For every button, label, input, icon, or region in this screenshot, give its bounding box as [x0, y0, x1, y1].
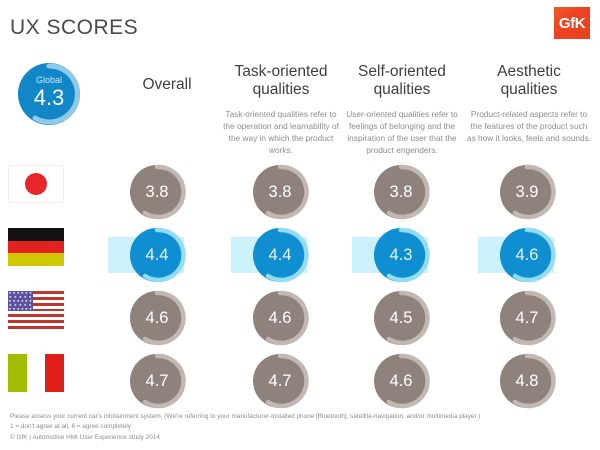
score-value: 3.8 [130, 165, 184, 219]
flag-italy-icon [8, 354, 64, 392]
flag-japan-icon [8, 165, 64, 203]
score-value: 3.9 [500, 165, 554, 219]
flag-germany-icon [8, 228, 64, 266]
footer-line-scale: 1 = don't agree at all, 6 = agree comple… [10, 422, 480, 432]
gfk-logo-text: GfK [559, 16, 585, 31]
global-score-value: 4.3 [18, 87, 80, 109]
column-title-line1: Aesthetic [466, 63, 592, 81]
score-circle-germany-overall: 4.4 [130, 228, 184, 282]
germany-band-gold [8, 253, 64, 266]
score-circle-italy-aesthetic: 4.8 [500, 354, 554, 408]
usa-stripe [8, 314, 64, 317]
column-header-self-oriented: Self-oriented qualities User-oriented qu… [343, 63, 461, 156]
score-circle-japan-overall: 3.8 [130, 165, 184, 219]
usa-stripe [8, 320, 64, 323]
column-title-self-oriented: Self-oriented qualities [343, 63, 461, 100]
usa-star-row: ★★★★★★ [8, 308, 33, 312]
score-circle-japan-task: 3.8 [253, 165, 307, 219]
score-value: 4.6 [130, 291, 184, 345]
usa-stripe [8, 326, 64, 329]
germany-band-black [8, 228, 64, 241]
score-circle-united-states-overall: 4.6 [130, 291, 184, 345]
column-title-line1: Self-oriented [343, 63, 461, 81]
score-value: 3.8 [253, 165, 307, 219]
column-title-line2: qualities [222, 81, 340, 99]
usa-canton: ★★★★★★ ★★★★★ ★★★★★★ ★★★★★ ★★★★★★ [8, 291, 33, 311]
score-circle-united-states-self: 4.5 [374, 291, 428, 345]
column-description-self-oriented: User-oriented qualities refer to feeling… [343, 108, 461, 156]
column-description-task-oriented: Task-oriented qualities refer to the ope… [222, 108, 340, 156]
score-circle-italy-overall: 4.7 [130, 354, 184, 408]
score-value: 4.7 [130, 354, 184, 408]
column-header-aesthetic: Aesthetic qualities Product-related aspe… [466, 63, 592, 144]
germany-band-red [8, 241, 64, 254]
global-score-badge: Global 4.3 [18, 63, 80, 125]
score-value: 4.4 [130, 228, 184, 282]
score-value: 4.6 [500, 228, 554, 282]
column-title-line2: qualities [466, 81, 592, 99]
footer-note: Please assess your current car's infotai… [10, 412, 480, 443]
column-header-task-oriented: Task-oriented qualities Task-oriented qu… [222, 63, 340, 156]
japan-sun-disc [25, 173, 47, 195]
score-circle-germany-aesthetic: 4.6 [500, 228, 554, 282]
score-value: 4.8 [500, 354, 554, 408]
column-title-task-oriented: Task-oriented qualities [222, 63, 340, 100]
score-circle-italy-self: 4.6 [374, 354, 428, 408]
column-title-aesthetic: Aesthetic qualities [466, 63, 592, 100]
column-title-line1: Task-oriented [222, 63, 340, 81]
score-value: 4.6 [253, 291, 307, 345]
italy-band-green [8, 354, 27, 392]
column-description-aesthetic: Product-related aspects refer to the fea… [466, 108, 592, 144]
flag-usa-icon: ★★★★★★ ★★★★★ ★★★★★★ ★★★★★ ★★★★★★ [8, 291, 64, 329]
score-circle-italy-task: 4.7 [253, 354, 307, 408]
italy-band-white [27, 354, 46, 392]
score-value: 4.6 [374, 354, 428, 408]
score-value: 4.3 [374, 228, 428, 282]
global-score-label: Global [18, 76, 80, 85]
score-value: 4.7 [500, 291, 554, 345]
score-circle-germany-self: 4.3 [374, 228, 428, 282]
score-value: 4.4 [253, 228, 307, 282]
italy-band-red [45, 354, 64, 392]
footer-line-copyright: © GfK | Automotive HMI User Experience s… [10, 433, 480, 443]
score-circle-japan-self: 3.8 [374, 165, 428, 219]
footer-line-question: Please assess your current car's infotai… [10, 412, 480, 422]
page-title: UX SCORES [10, 16, 138, 40]
score-circle-united-states-aesthetic: 4.7 [500, 291, 554, 345]
column-title-overall: Overall [112, 76, 222, 94]
score-circle-germany-task: 4.4 [253, 228, 307, 282]
score-circle-japan-aesthetic: 3.9 [500, 165, 554, 219]
gfk-logo: GfK [554, 7, 590, 39]
score-value: 3.8 [374, 165, 428, 219]
column-header-overall: Overall [112, 76, 222, 94]
score-value: 4.5 [374, 291, 428, 345]
column-title-line2: qualities [343, 81, 461, 99]
score-value: 4.7 [253, 354, 307, 408]
score-circle-united-states-task: 4.6 [253, 291, 307, 345]
